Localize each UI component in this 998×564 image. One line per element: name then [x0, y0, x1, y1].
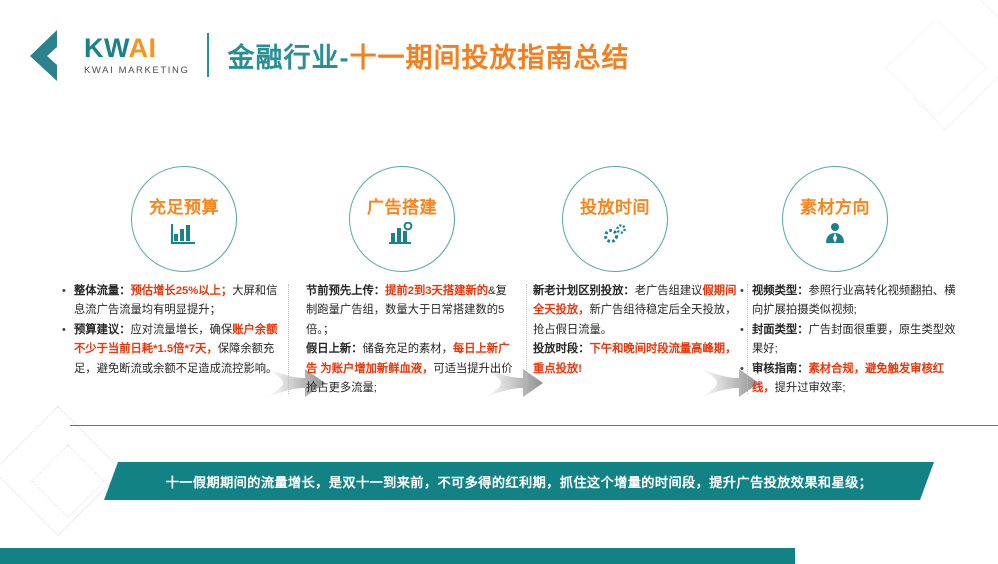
bullet-marker: • — [740, 360, 752, 379]
column-divider — [526, 284, 527, 394]
step-label-2: 广告搭建 — [349, 193, 455, 218]
step-label-3: 投放时间 — [562, 193, 668, 218]
section-divider-line — [70, 425, 998, 426]
brand-name-part2: AI — [129, 33, 157, 63]
slide-root: KWAI KWAI MARKETING 金融行业-十一期间投放指南总结 充足预算 — [0, 0, 998, 564]
header-divider — [207, 33, 209, 77]
text-run-bold: 整体流量： — [74, 285, 131, 297]
list-item: • 预算建议：应对流量增长，确保账户余额不少于当前日耗*1.5倍*7天，保障余额… — [62, 321, 280, 379]
column-divider — [288, 284, 289, 394]
brand-name-part1: KW — [84, 33, 129, 63]
step-label-4: 素材方向 — [782, 193, 888, 218]
text-run-bold: 新老计划区别投放： — [533, 285, 635, 297]
bullet-marker: • — [740, 321, 752, 340]
list-item-text: 预算建议：应对流量增长，确保账户余额不少于当前日耗*1.5倍*7天，保障余额充足… — [74, 321, 280, 379]
list-item: 假日上新：储备充足的素材，每日上新广告 为账户增加新鲜血液，可适当提升出价抢占更… — [306, 340, 518, 398]
text-run-bold: 节前预先上传： — [306, 285, 385, 297]
text-run-normal: 储备充足的素材， — [363, 343, 453, 355]
brand-tagline: KWAI MARKETING — [84, 65, 189, 76]
text-run-bold: 投放时段： — [533, 343, 590, 355]
text-run-bold: 假日上新： — [306, 343, 363, 355]
page-title-orange: 十一期间投放指南总结 — [349, 43, 629, 73]
list-item: 节前预先上传：提前2到3天搭建新的&复制跑量广告组，数量大于日常搭建数的5倍。； — [306, 282, 518, 340]
content-column-3: 新老计划区别投放：老广告组建议假期间全天投放，新广告组待稳定后全天投放，抢占假日… — [533, 282, 739, 379]
gears-icon — [562, 222, 668, 251]
bar-chart-icon — [131, 222, 237, 249]
text-run-bold: 预算建议： — [74, 324, 131, 336]
step-flow: 充足预算 — [0, 166, 998, 276]
list-item: • 视频类型：参照行业高转化视频翻拍、横向扩展拍摄类似视频; — [740, 282, 956, 321]
list-item-text: 封面类型：广告封面很重要，原生类型效果好; — [752, 321, 956, 360]
text-run-highlight: 预估增长25%以上； — [131, 285, 233, 297]
page-title: 金融行业-十一期间投放指南总结 — [227, 36, 629, 75]
step-label-1: 充足预算 — [131, 193, 237, 218]
kwai-chevron-logo-icon — [16, 26, 74, 84]
bullet-marker: • — [740, 282, 752, 301]
brand-header: KWAI KWAI MARKETING 金融行业-十一期间投放指南总结 — [16, 26, 629, 84]
content-column-2: 节前预先上传：提前2到3天搭建新的&复制跑量广告组，数量大于日常搭建数的5倍。；… — [306, 282, 518, 399]
list-item-text: 整体流量：预估增长25%以上；大屏和信息流广告流量均有明显提升； — [74, 282, 280, 321]
step-circle-2[interactable]: 广告搭建 — [349, 166, 455, 272]
text-run-bold: 封面类型： — [752, 324, 809, 336]
footer-bar — [0, 548, 795, 564]
text-run-bold: 视频类型： — [752, 285, 809, 297]
bar-chart-gear-icon — [349, 222, 455, 249]
summary-banner: 十一假期期间的流量增长，是双十一到来前，不可多得的红利期，抓住这个增量的时间段，… — [104, 462, 934, 500]
person-icon — [782, 222, 888, 249]
brand-wordmark: KWAI KWAI MARKETING — [84, 35, 189, 76]
list-item: • 整体流量：预估增长25%以上；大屏和信息流广告流量均有明显提升； — [62, 282, 280, 321]
list-item-text: 视频类型：参照行业高转化视频翻拍、横向扩展拍摄类似视频; — [752, 282, 956, 321]
text-run-highlight: 提前2到3天搭建新的 — [385, 285, 488, 297]
bullet-marker: • — [62, 282, 74, 301]
step-circle-4[interactable]: 素材方向 — [782, 166, 888, 272]
content-column-4: • 视频类型：参照行业高转化视频翻拍、横向扩展拍摄类似视频; • 封面类型：广告… — [740, 282, 956, 399]
list-item: • 封面类型：广告封面很重要，原生类型效果好; — [740, 321, 956, 360]
list-item: 新老计划区别投放：老广告组建议假期间全天投放，新广告组待稳定后全天投放，抢占假日… — [533, 282, 739, 340]
text-run-normal: 提升过审效率; — [775, 382, 846, 394]
bullet-marker: • — [62, 321, 74, 340]
list-item: 投放时段：下午和晚间时段流量高峰期，重点投放! — [533, 340, 739, 379]
text-run-normal: 应对流量增长，确保 — [131, 324, 233, 336]
content-column-1: • 整体流量：预估增长25%以上；大屏和信息流广告流量均有明显提升； • 预算建… — [62, 282, 280, 379]
summary-banner-text: 十一假期期间的流量增长，是双十一到来前，不可多得的红利期，抓住这个增量的时间段，… — [166, 472, 873, 491]
page-title-teal: 金融行业- — [227, 43, 349, 73]
list-item: • 审核指南：素材合规，避免触发审核红线，提升过审效率; — [740, 360, 956, 399]
list-item-text: 审核指南：素材合规，避免触发审核红线，提升过审效率; — [752, 360, 956, 399]
text-run-bold: 审核指南： — [752, 363, 809, 375]
step-circle-3[interactable]: 投放时间 — [562, 166, 668, 272]
text-run-normal: 老广告组建议 — [635, 285, 703, 297]
step-circle-1[interactable]: 充足预算 — [131, 166, 237, 272]
